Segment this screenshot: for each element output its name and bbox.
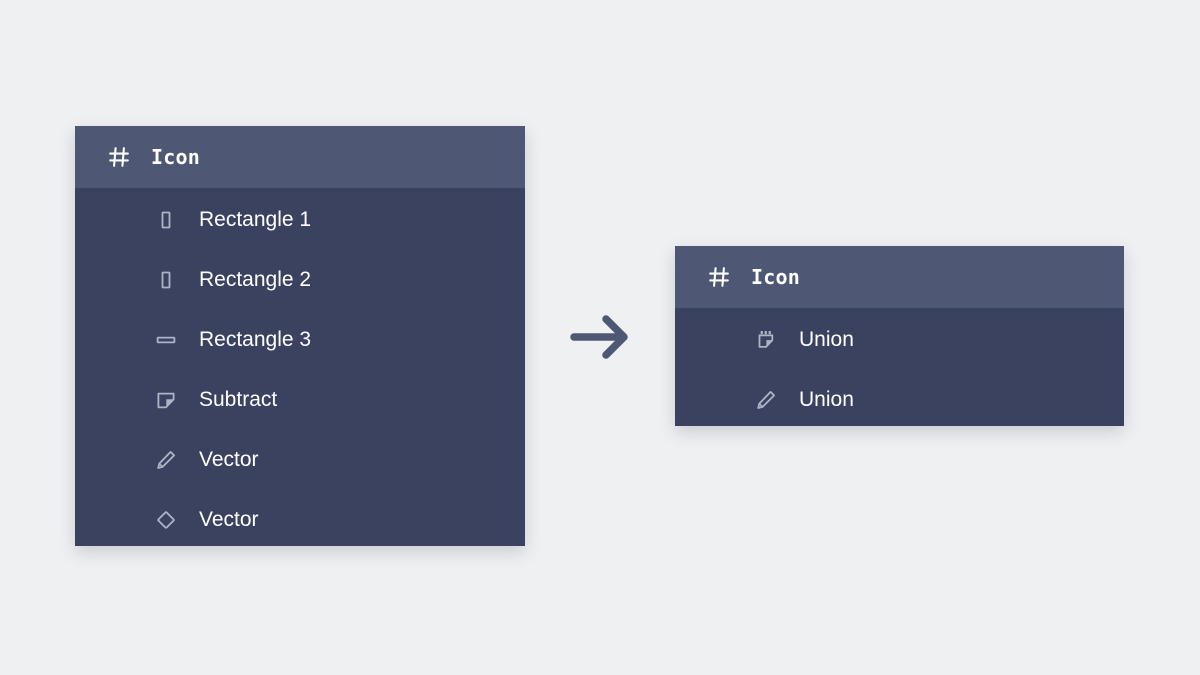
union-boolean-icon — [755, 329, 777, 351]
layer-row-rectangle-3[interactable]: Rectangle 3 — [75, 310, 525, 370]
layer-row-vector-diamond[interactable]: Vector — [75, 490, 525, 546]
rectangle-vertical-icon — [155, 269, 177, 291]
subtract-boolean-icon — [155, 389, 177, 411]
canvas-stage: Icon Rectangle 1 Rectangle 2 — [0, 0, 1200, 675]
layer-label: Rectangle 3 — [199, 328, 311, 352]
rectangle-vertical-icon — [155, 209, 177, 231]
layer-label: Union — [799, 328, 854, 352]
diamond-vector-icon — [155, 509, 177, 531]
layer-label: Rectangle 1 — [199, 208, 311, 232]
panel-title-after: Icon — [751, 265, 800, 289]
panel-title-before: Icon — [151, 145, 200, 169]
layer-row-union-pen[interactable]: Union — [675, 370, 1124, 426]
layer-label: Union — [799, 388, 854, 412]
panel-header-after[interactable]: Icon — [675, 246, 1124, 308]
layers-list-after: Union Union — [675, 308, 1124, 426]
layer-label: Subtract — [199, 388, 277, 412]
rectangle-horizontal-icon — [155, 329, 177, 351]
layer-row-rectangle-2[interactable]: Rectangle 2 — [75, 250, 525, 310]
layer-label: Vector — [199, 508, 259, 532]
layer-row-vector-pen[interactable]: Vector — [75, 430, 525, 490]
hash-grid-icon — [108, 146, 130, 168]
layer-row-rectangle-1[interactable]: Rectangle 1 — [75, 190, 525, 250]
layers-panel-after: Icon Union — [675, 246, 1124, 426]
panel-header-before[interactable]: Icon — [75, 126, 525, 188]
layer-row-subtract[interactable]: Subtract — [75, 370, 525, 430]
layer-row-union-boolean[interactable]: Union — [675, 310, 1124, 370]
layers-panel-before: Icon Rectangle 1 Rectangle 2 — [75, 126, 525, 546]
layer-label: Rectangle 2 — [199, 268, 311, 292]
pen-vector-icon — [755, 389, 777, 411]
right-arrow-icon — [568, 310, 634, 364]
layer-label: Vector — [199, 448, 259, 472]
pen-vector-icon — [155, 449, 177, 471]
layers-list-before: Rectangle 1 Rectangle 2 Rectangle 3 — [75, 188, 525, 546]
hash-grid-icon — [708, 266, 730, 288]
